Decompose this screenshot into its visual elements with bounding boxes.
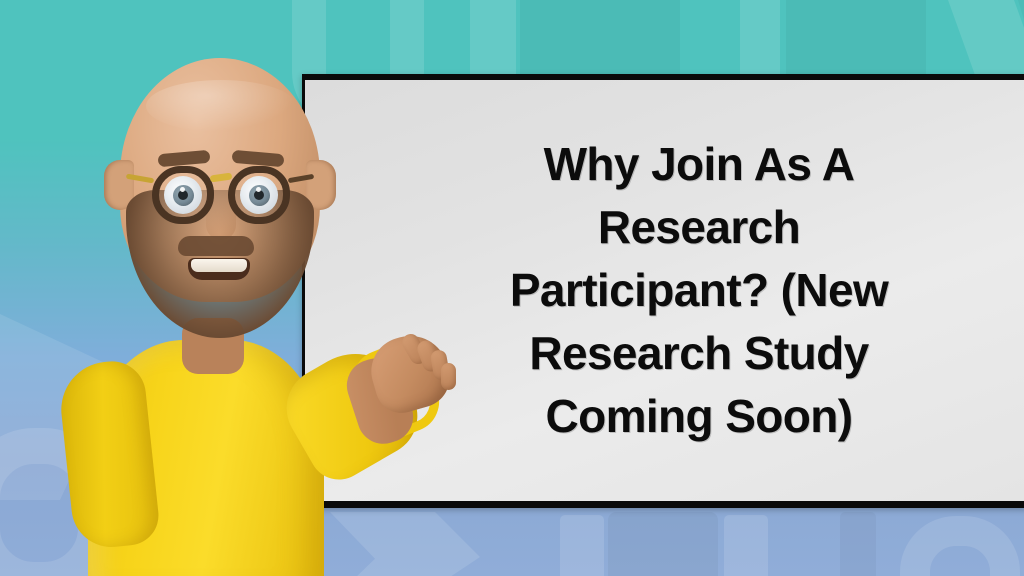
- avatar-scalp-highlight: [146, 80, 296, 132]
- avatar-teeth: [191, 259, 247, 272]
- avatar-mustache: [178, 236, 254, 256]
- glasses-right-lens-icon: [228, 166, 290, 224]
- decorative-bar-bottom-1: [560, 515, 604, 576]
- decorative-block-bottom: [608, 512, 718, 576]
- decorative-ring-bottom-right: [900, 516, 1020, 576]
- glasses-left-lens-icon: [152, 166, 214, 224]
- decorative-bar-bottom-3: [840, 512, 876, 576]
- page-title: Why Join As A Research Participant? (New…: [464, 133, 934, 448]
- thumbnail-canvas: Why Join As A Research Participant? (New…: [0, 0, 1024, 576]
- avatar-finger-4: [441, 363, 456, 390]
- presenter-avatar: [60, 40, 440, 576]
- decorative-bar-bottom-2: [724, 515, 768, 576]
